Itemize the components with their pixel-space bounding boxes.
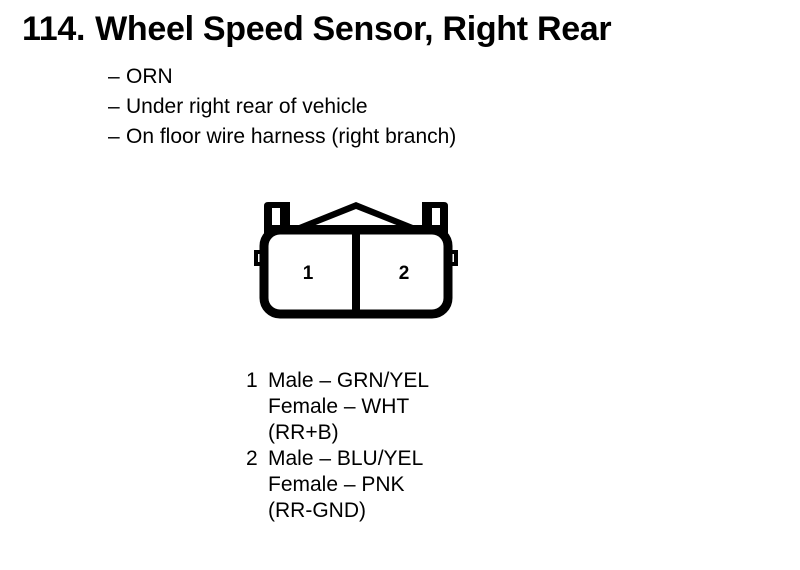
pin-legend-line-female: Female – PNK xyxy=(268,472,429,498)
pin-legend-entry: 1 Male – GRN/YEL Female – WHT (RR+B) xyxy=(246,368,429,446)
pin-legend: 1 Male – GRN/YEL Female – WHT (RR+B) 2 M… xyxy=(246,368,429,524)
description-item-2: –On floor wire harness (right branch) xyxy=(108,122,456,152)
description-item-0: –ORN xyxy=(108,62,456,92)
page-title: 114.Wheel Speed Sensor, Right Rear xyxy=(22,12,611,48)
pin-legend-number: 1 xyxy=(246,368,260,394)
bullet-dash-icon: – xyxy=(108,62,126,92)
pin-legend-entry: 2 Male – BLU/YEL Female – PNK (RR-GND) xyxy=(246,446,429,524)
description-item-label: Under right rear of vehicle xyxy=(126,92,368,122)
pin-legend-line-circuit: (RR-GND) xyxy=(268,498,429,524)
pin-legend-line-female: Female – WHT xyxy=(268,394,429,420)
description-item-1: –Under right rear of vehicle xyxy=(108,92,456,122)
page-title-text: Wheel Speed Sensor, Right Rear xyxy=(95,12,611,48)
pin-legend-line-male: Male – BLU/YEL xyxy=(268,446,429,472)
connector-body xyxy=(254,230,458,314)
connector-diagram: 1 2 xyxy=(246,194,466,324)
pin-legend-lines: Male – BLU/YEL Female – PNK (RR-GND) xyxy=(268,446,429,524)
cavity-divider xyxy=(352,230,360,314)
bullet-dash-icon: – xyxy=(108,92,126,122)
cavity-label-2: 2 xyxy=(399,263,410,284)
pin-legend-line-circuit: (RR+B) xyxy=(268,420,429,446)
pin-legend-line-male: Male – GRN/YEL xyxy=(268,368,429,394)
connector-illustration: 1 2 xyxy=(246,194,466,324)
page-title-number: 114. xyxy=(22,12,85,48)
description-item-label: ORN xyxy=(126,62,173,92)
description-item-label: On floor wire harness (right branch) xyxy=(126,122,456,152)
bullet-dash-icon: – xyxy=(108,122,126,152)
pin-legend-lines: Male – GRN/YEL Female – WHT (RR+B) xyxy=(268,368,429,446)
description-list: –ORN –Under right rear of vehicle –On fl… xyxy=(108,62,456,152)
cavity-label-1: 1 xyxy=(303,263,314,284)
pin-legend-number: 2 xyxy=(246,446,260,472)
